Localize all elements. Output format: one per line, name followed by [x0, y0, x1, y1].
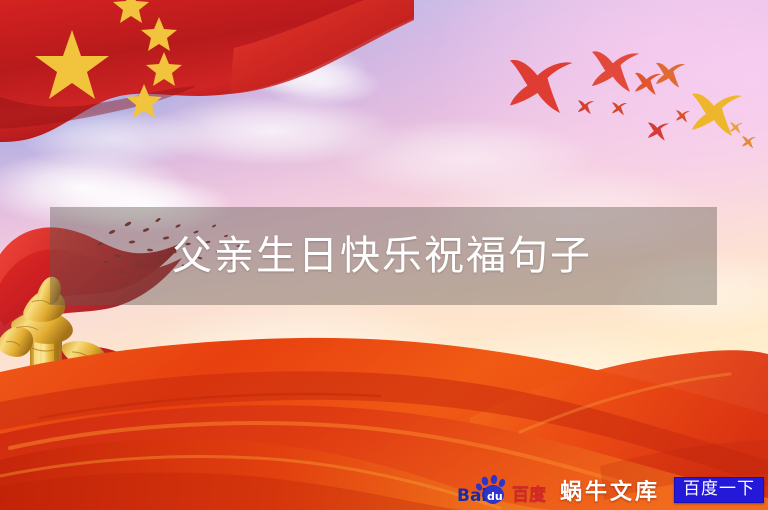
- brand-bar: Bai du 百度 蜗牛文库 百度一下: [457, 470, 768, 510]
- baidu-cn-label: 百度: [512, 480, 546, 505]
- baidu-wordmark: Bai: [457, 486, 487, 505]
- baidu-du-label: du: [487, 490, 503, 503]
- baidu-logo[interactable]: Bai du 百度: [457, 475, 546, 505]
- chinese-flag: [0, 0, 414, 162]
- poster-canvas: 父亲生日快乐祝福句子 Bai du 百度 蜗牛文库: [0, 0, 768, 510]
- title-overlay-bar: 父亲生日快乐祝福句子: [50, 207, 717, 305]
- flag-cloth: [0, 0, 414, 162]
- site-name: 蜗牛文库: [560, 474, 660, 506]
- flying-birds-flock: [480, 36, 768, 166]
- page-title: 父亲生日快乐祝福句子: [172, 236, 592, 276]
- baidu-search-button[interactable]: 百度一下: [674, 477, 764, 503]
